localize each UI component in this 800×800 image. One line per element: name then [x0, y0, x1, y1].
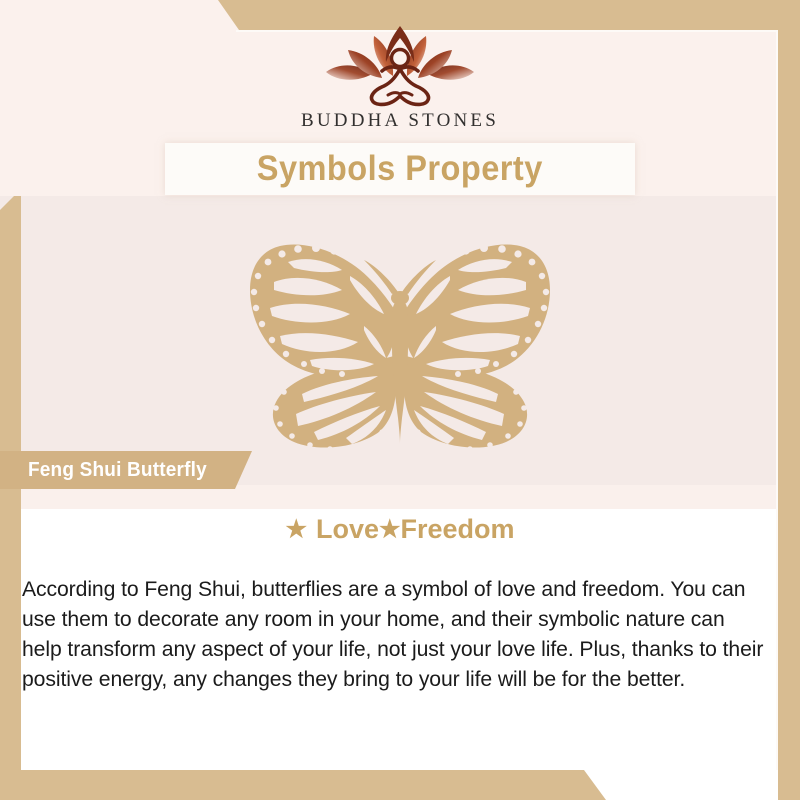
description-paragraph: According to Feng Shui, butterflies are … [22, 574, 769, 694]
frame-inner-highlight-right [776, 30, 778, 770]
page-title: Symbols Property [257, 149, 543, 189]
keywords-subheading: ★Love★Freedom [0, 514, 800, 545]
star-icon-left: ★ [285, 516, 307, 543]
title-banner: Symbols Property [165, 143, 635, 195]
butterfly-illustration [218, 238, 582, 460]
butterfly-icon [218, 238, 582, 460]
frame-left-bar [0, 196, 21, 800]
keyword-freedom: Freedom [401, 514, 515, 544]
lotus-meditation-icon [314, 22, 486, 108]
brand-logo: BUDDHA STONES [0, 22, 800, 132]
keyword-love: Love [316, 514, 379, 544]
feng-shui-badge: Feng Shui Butterfly [0, 451, 252, 489]
star-icon-middle: ★ [379, 516, 401, 543]
symbols-property-poster: BUDDHA STONES Symbols Property [0, 0, 800, 800]
brand-name: BUDDHA STONES [0, 110, 800, 132]
badge-label: Feng Shui Butterfly [28, 459, 207, 482]
